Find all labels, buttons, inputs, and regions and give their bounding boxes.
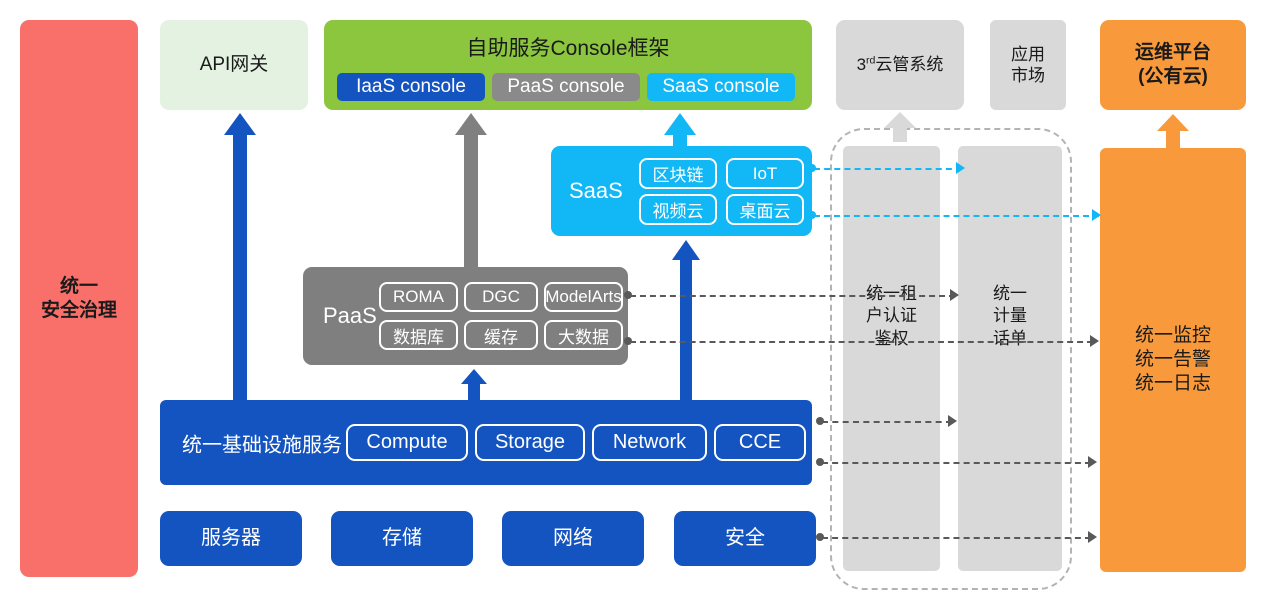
unified-infrastructure-bar: 统一基础设施服务 Compute Storage Network CCE	[160, 400, 812, 485]
paas-label: PaaS	[323, 303, 377, 329]
paas-item-database-label: 数据库	[393, 323, 444, 348]
arrow-infra-to-api-gateway	[224, 113, 256, 403]
connector-arrowhead-paas-1	[950, 289, 959, 301]
hardware-item-security-label: 安全	[725, 526, 765, 551]
arrow-infra-to-paas	[461, 369, 487, 401]
tenant-auth-line-3: 鉴权	[843, 328, 940, 350]
connector-hardware-to-ops	[822, 537, 1091, 539]
connector-arrowhead-paas-2	[1090, 335, 1099, 347]
security-line-2: 安全治理	[41, 299, 117, 323]
connector-infra-to-tenant-auth	[822, 421, 952, 423]
saas-item-iot[interactable]: IoT	[726, 158, 804, 189]
paas-item-roma-label: ROMA	[393, 287, 444, 307]
hardware-item-network: 网络	[502, 511, 644, 566]
paas-console-label: PaaS console	[507, 75, 624, 99]
architecture-diagram: 统一 安全治理 API网关 自助服务Console框架 IaaS console…	[0, 0, 1265, 605]
connector-arrowhead-hardware	[1088, 531, 1097, 543]
connector-arrowhead-infra-2	[1088, 456, 1097, 468]
paas-item-modelarts-label: ModelArts	[545, 287, 622, 307]
saas-box: SaaS 区块链 IoT 视频云 桌面云	[551, 146, 812, 236]
metering-line-3: 话单	[958, 328, 1062, 350]
connector-saas-to-metering	[814, 168, 962, 170]
security-line-1: 统一	[60, 275, 98, 299]
iaas-console-label: IaaS console	[356, 75, 466, 99]
saas-item-desktop-cloud-label: 桌面云	[740, 197, 791, 222]
connector-paas-to-ops	[630, 341, 1093, 343]
app-market-line-1: 应用	[1011, 44, 1045, 65]
paas-item-modelarts[interactable]: ModelArts	[544, 282, 623, 312]
infra-item-network-label: Network	[613, 431, 686, 454]
ops-panel-line-3: 统一日志	[1135, 372, 1211, 396]
third-party-cloud-mgmt-box: 3rd云管系统	[836, 20, 964, 110]
metering-billing-column	[958, 146, 1062, 571]
saas-label: SaaS	[569, 178, 623, 204]
connector-paas-to-tenant-auth	[630, 295, 955, 297]
arrow-paas-to-console	[455, 113, 487, 271]
saas-item-iot-label: IoT	[753, 164, 778, 184]
connector-infra-to-ops	[822, 462, 1091, 464]
hardware-item-security: 安全	[674, 511, 816, 566]
infra-item-compute-label: Compute	[366, 431, 447, 454]
infra-item-compute[interactable]: Compute	[346, 424, 468, 461]
metering-line-2: 计量	[958, 305, 1062, 327]
saas-item-desktop-cloud[interactable]: 桌面云	[726, 194, 804, 225]
saas-item-video-cloud-label: 视频云	[653, 197, 704, 222]
paas-box: PaaS ROMA DGC ModelArts 数据库 缓存 大数据	[303, 267, 628, 365]
arrow-shared-services-to-third-party	[884, 112, 916, 142]
infra-item-storage-label: Storage	[495, 431, 565, 454]
arrow-ops-panel-to-ops-platform	[1157, 114, 1189, 149]
app-market-line-2: 市场	[1011, 65, 1045, 86]
paas-item-dgc-label: DGC	[482, 287, 520, 307]
paas-item-bigdata-label: 大数据	[558, 323, 609, 348]
security-governance-panel: 统一 安全治理	[20, 20, 138, 577]
paas-item-roma[interactable]: ROMA	[379, 282, 458, 312]
tenant-auth-column	[843, 146, 940, 571]
paas-item-cache-label: 缓存	[484, 323, 518, 348]
paas-item-dgc[interactable]: DGC	[464, 282, 538, 312]
infra-item-cce[interactable]: CCE	[714, 424, 806, 461]
ops-platform-box: 运维平台 (公有云)	[1100, 20, 1246, 110]
connector-arrowhead-saas-1	[956, 162, 965, 174]
hardware-item-storage-label: 存储	[382, 526, 422, 551]
infra-item-cce-label: CCE	[739, 431, 781, 454]
api-gateway-box: API网关	[160, 20, 308, 110]
ops-panel-line-2: 统一告警	[1135, 348, 1211, 372]
arrow-infra-to-saas	[672, 240, 700, 402]
connector-saas-to-ops	[814, 215, 1099, 217]
metering-line-1: 统一	[958, 283, 1062, 305]
tenant-auth-line-2: 户认证	[843, 305, 940, 327]
iaas-console-chip[interactable]: IaaS console	[337, 73, 485, 101]
hardware-item-storage: 存储	[331, 511, 473, 566]
infra-item-storage[interactable]: Storage	[475, 424, 585, 461]
saas-console-chip[interactable]: SaaS console	[647, 73, 795, 101]
ops-panel-line-1: 统一监控	[1135, 324, 1211, 348]
hardware-item-server-label: 服务器	[201, 526, 261, 551]
connector-arrowhead-saas-2	[1092, 209, 1101, 221]
console-framework-title: 自助服务Console框架	[324, 36, 812, 62]
third-party-prefix: 3	[857, 55, 866, 74]
infra-item-network[interactable]: Network	[592, 424, 707, 461]
ops-platform-line-1: 运维平台	[1135, 41, 1211, 65]
paas-console-chip[interactable]: PaaS console	[492, 73, 640, 101]
third-party-label: 3rd云管系统	[857, 54, 944, 75]
connector-arrowhead-infra-1	[948, 415, 957, 427]
console-framework-box: 自助服务Console框架 IaaS console PaaS console …	[324, 20, 812, 110]
ops-platform-line-2: (公有云)	[1138, 65, 1208, 89]
arrow-saas-to-console	[664, 113, 696, 151]
paas-item-cache[interactable]: 缓存	[464, 320, 538, 350]
third-party-suffix: 云管系统	[875, 55, 943, 74]
unified-ops-panel: 统一监控 统一告警 统一日志	[1100, 148, 1246, 572]
saas-item-blockchain-label: 区块链	[653, 161, 704, 186]
paas-item-bigdata[interactable]: 大数据	[544, 320, 623, 350]
hardware-item-server: 服务器	[160, 511, 302, 566]
saas-item-video-cloud[interactable]: 视频云	[639, 194, 717, 225]
infrastructure-label: 统一基础设施服务	[182, 428, 342, 457]
hardware-item-network-label: 网络	[553, 526, 593, 551]
saas-item-blockchain[interactable]: 区块链	[639, 158, 717, 189]
app-market-box: 应用 市场	[990, 20, 1066, 110]
api-gateway-label: API网关	[200, 53, 269, 77]
saas-console-label: SaaS console	[662, 75, 779, 99]
paas-item-database[interactable]: 数据库	[379, 320, 458, 350]
